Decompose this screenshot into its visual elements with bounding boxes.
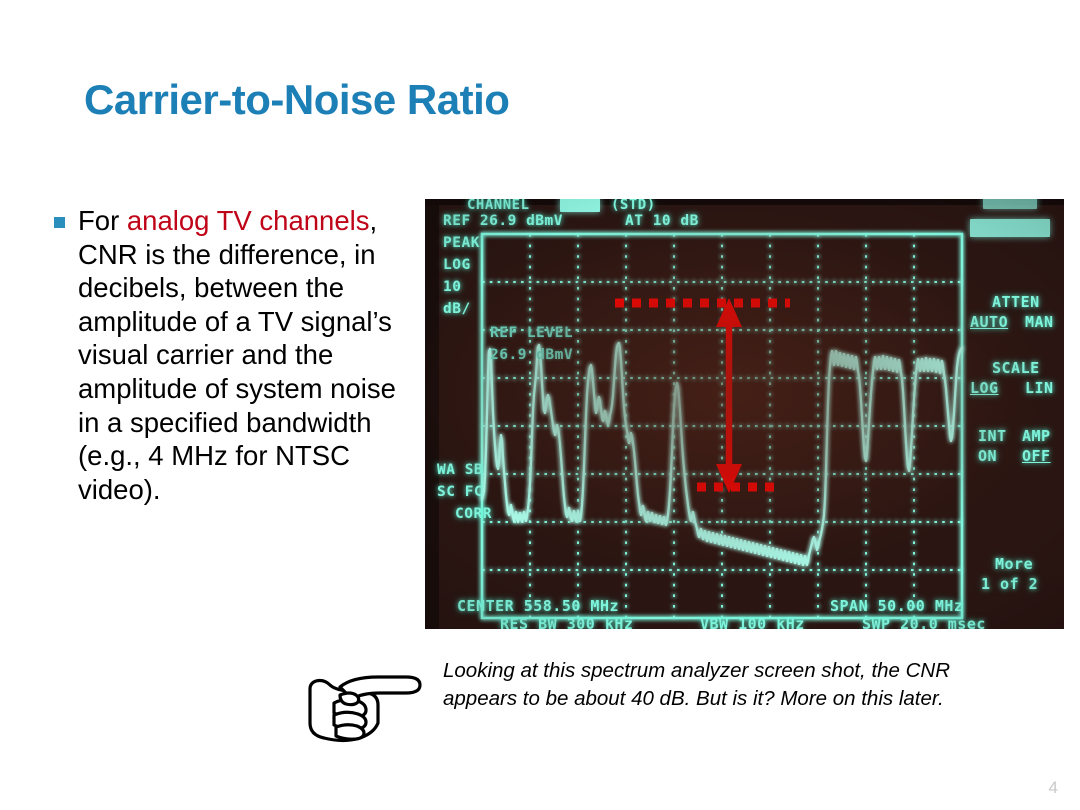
sa-channel-standard: (STD) [611, 199, 656, 213]
sa-status-sc-fc: SC FC [437, 484, 483, 500]
sa-span-readout: SPAN 50.00 MHz [830, 597, 963, 615]
softkey-atten-title[interactable]: ATTEN [992, 293, 1040, 311]
bullet-lead-text: For [78, 205, 127, 236]
spectrum-analyzer-screenshot: CHANNEL (STD) REF 26.9 dBmV AT 10 dB PEA… [425, 199, 1064, 629]
softkey-scale-log[interactable]: LOG [970, 379, 999, 397]
sa-attenuation-readout: AT 10 dB [625, 213, 699, 229]
sa-vbw-readout: VBW 100 kHz [700, 615, 805, 629]
sa-softkey-title-highlight [983, 199, 1037, 209]
sa-sweep-time-readout: SWP 20.0 msec [862, 615, 986, 629]
bullet-rest-text: , CNR is the difference, in decibels, be… [78, 205, 396, 505]
bullet-list: For analog TV channels, CNR is the diffe… [54, 204, 404, 506]
page-title: Carrier-to-Noise Ratio [84, 76, 509, 124]
softkey-int-on[interactable]: ON [978, 447, 997, 465]
sa-res-bw-readout: RES BW 300 kHz [500, 615, 633, 629]
sa-marker-line-1: REF LEVEL [490, 325, 573, 341]
softkey-amp-title[interactable]: AMP [1022, 427, 1051, 445]
bullet-highlight-text: analog TV channels [127, 205, 370, 236]
spectrum-analyzer-display [425, 199, 1064, 629]
softkey-scale-title[interactable]: SCALE [992, 359, 1040, 377]
sa-scale-type-label: LOG [443, 257, 471, 273]
square-bullet-icon [54, 217, 65, 228]
caption-text: Looking at this spectrum analyzer screen… [443, 657, 1023, 713]
softkey-more-title[interactable]: More [995, 555, 1033, 573]
slide-page-number: 4 [1049, 778, 1058, 798]
sa-status-wa-sb: WA SB [437, 462, 483, 478]
softkey-scale-lin[interactable]: LIN [1025, 379, 1054, 397]
softkey-atten-man[interactable]: MAN [1025, 313, 1054, 331]
sa-ref-level-readout: REF 26.9 dBmV [443, 213, 563, 229]
sa-detector-label: PEAK [443, 235, 480, 251]
softkey-int-title[interactable]: INT [978, 427, 1007, 445]
pointing-hand-icon [300, 665, 430, 745]
softkey-atten-auto[interactable]: AUTO [970, 313, 1008, 331]
sa-scale-value-label: 10 [443, 279, 461, 295]
softkey-amp-off[interactable]: OFF [1022, 447, 1051, 465]
sa-scale-unit-label: dB/ [443, 301, 471, 317]
sa-softkey-active-highlight [970, 219, 1050, 237]
softkey-more-subtitle: 1 of 2 [981, 575, 1038, 593]
sa-marker-line-2: 26.9 dBmV [490, 347, 573, 363]
sa-channel-label: CHANNEL [467, 199, 530, 213]
sa-channel-value-highlight [560, 199, 600, 212]
bullet-item-text: For analog TV channels, CNR is the diffe… [78, 204, 404, 506]
sa-status-corr: CORR [455, 506, 492, 522]
sa-center-frequency-readout: CENTER 558.50 MHz [457, 597, 619, 615]
